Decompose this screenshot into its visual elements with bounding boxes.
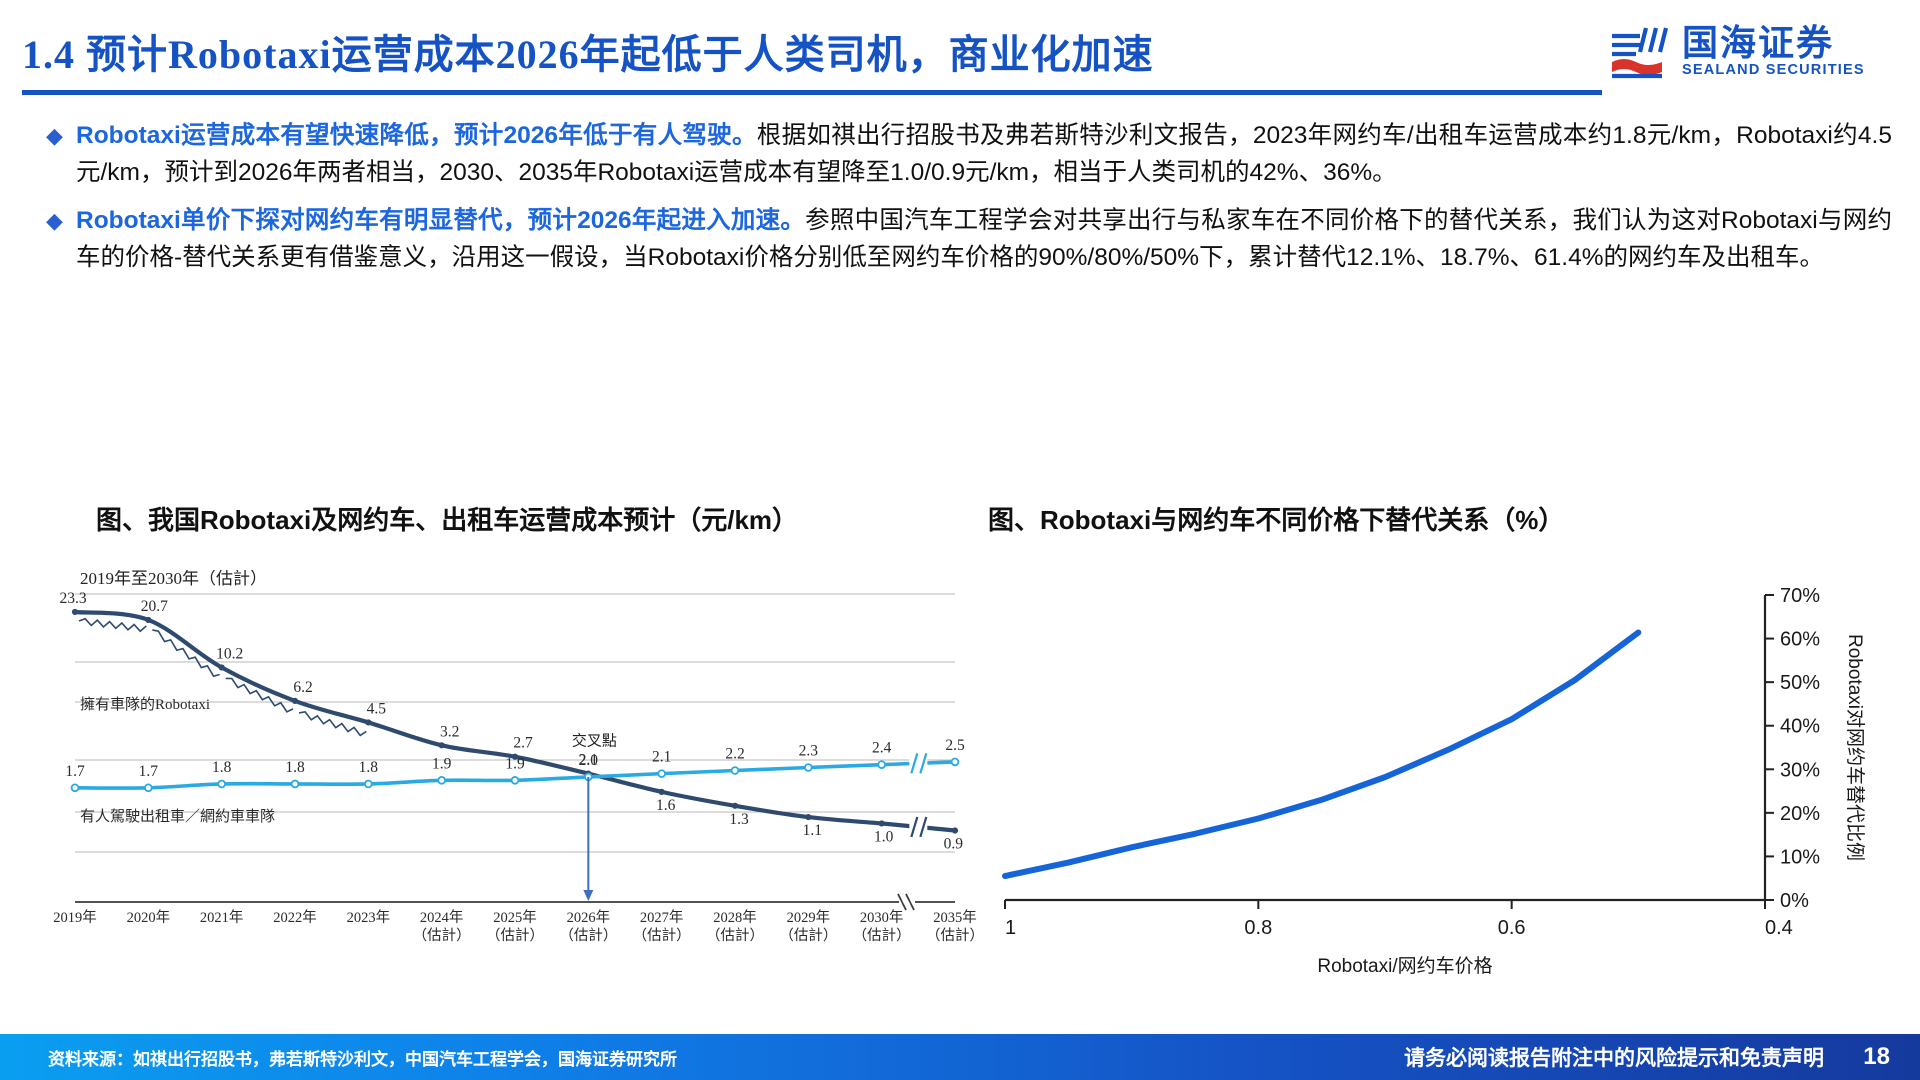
svg-text:（估計）: （估計） xyxy=(853,927,911,944)
svg-text:1.0: 1.0 xyxy=(874,828,894,845)
svg-text:2.0: 2.0 xyxy=(579,752,599,769)
svg-text:1: 1 xyxy=(1005,917,1016,939)
svg-text:1.8: 1.8 xyxy=(359,759,379,776)
logo-chinese-name: 国海证券 xyxy=(1682,25,1865,63)
svg-text:（估計）: （估計） xyxy=(926,927,980,944)
svg-text:4.5: 4.5 xyxy=(367,700,387,717)
slide-page: 1.4 预计Robotaxi运营成本2026年起低于人类司机，商业化加速 国海证… xyxy=(0,0,1920,1080)
bullet-list: ◆ Robotaxi运营成本有望快速降低，预计2026年低于有人驾驶。根据如祺出… xyxy=(42,118,1892,288)
bullet-strong-text: Robotaxi单价下探对网约车有明显替代，预计2026年起进入加速。 xyxy=(76,207,805,234)
svg-text:2.5: 2.5 xyxy=(945,737,965,754)
svg-text:50%: 50% xyxy=(1780,672,1820,694)
svg-text:Robotaxi/网约车价格: Robotaxi/网约车价格 xyxy=(1317,955,1492,977)
page-number: 18 xyxy=(1863,1043,1890,1071)
svg-text:0.8: 0.8 xyxy=(1244,917,1272,939)
page-title: 1.4 预计Robotaxi运营成本2026年起低于人类司机，商业化加速 xyxy=(22,22,1154,80)
svg-text:2024年: 2024年 xyxy=(420,909,464,926)
svg-text:23.3: 23.3 xyxy=(59,590,86,607)
svg-text:2.2: 2.2 xyxy=(725,745,744,762)
svg-text:0.9: 0.9 xyxy=(944,836,964,853)
diamond-bullet-icon: ◆ xyxy=(42,203,76,239)
svg-text:20%: 20% xyxy=(1780,803,1820,825)
svg-text:6.2: 6.2 xyxy=(293,679,312,696)
operating-cost-chart: 2019年至2030年（估計）交叉點23.320.710.26.24.53.22… xyxy=(50,570,980,970)
svg-text:2021年: 2021年 xyxy=(200,909,244,926)
svg-text:2023年: 2023年 xyxy=(347,909,391,926)
svg-text:（估計）: （估計） xyxy=(706,927,764,944)
svg-text:2.3: 2.3 xyxy=(799,743,819,760)
svg-text:1.7: 1.7 xyxy=(139,763,159,780)
svg-text:0.4: 0.4 xyxy=(1765,917,1793,939)
svg-text:（估計）: （估計） xyxy=(559,927,617,944)
svg-text:Robotaxi对网约车替代比例: Robotaxi对网约车替代比例 xyxy=(1844,634,1866,861)
svg-text:（估計）: （估計） xyxy=(779,927,837,944)
svg-text:2026年: 2026年 xyxy=(567,909,611,926)
svg-text:0%: 0% xyxy=(1780,890,1809,912)
sealand-logo-mark-icon xyxy=(1610,22,1672,82)
svg-text:1.9: 1.9 xyxy=(432,755,452,772)
svg-text:1.6: 1.6 xyxy=(656,797,676,814)
bullet-item: ◆ Robotaxi运营成本有望快速降低，预计2026年低于有人驾驶。根据如祺出… xyxy=(42,118,1892,191)
svg-text:1.3: 1.3 xyxy=(729,811,749,828)
bullet-strong-text: Robotaxi运营成本有望快速降低，预计2026年低于有人驾驶。 xyxy=(76,122,757,149)
svg-text:擁有車隊的Robotaxi: 擁有車隊的Robotaxi xyxy=(80,696,210,713)
svg-text:2025年: 2025年 xyxy=(493,909,537,926)
diamond-bullet-icon: ◆ xyxy=(42,118,76,154)
footer-source: 资料来源：如祺出行招股书，弗若斯特沙利文，中国汽车工程学会，国海证券研究所 xyxy=(48,1045,677,1070)
svg-text:1.7: 1.7 xyxy=(65,763,85,780)
svg-text:有人駕駛出租車／網約車車隊: 有人駕駛出租車／網約車車隊 xyxy=(80,808,275,825)
svg-text:10.2: 10.2 xyxy=(216,645,243,662)
svg-text:2019年: 2019年 xyxy=(53,909,97,926)
svg-text:1.8: 1.8 xyxy=(212,759,232,776)
svg-text:2030年: 2030年 xyxy=(860,909,904,926)
svg-text:2022年: 2022年 xyxy=(273,909,317,926)
svg-text:1.1: 1.1 xyxy=(803,822,822,839)
footer-bar: 资料来源：如祺出行招股书，弗若斯特沙利文，中国汽车工程学会，国海证券研究所 请务… xyxy=(0,1034,1920,1080)
bullet-text: Robotaxi单价下探对网约车有明显替代，预计2026年起进入加速。参照中国汽… xyxy=(76,203,1892,276)
svg-text:30%: 30% xyxy=(1780,759,1820,781)
svg-text:40%: 40% xyxy=(1780,716,1820,738)
title-underline-rule xyxy=(22,90,1602,95)
svg-text:2029年: 2029年 xyxy=(787,909,831,926)
svg-text:3.2: 3.2 xyxy=(440,723,459,740)
substitution-chart: 0%10%20%30%40%50%60%70%10.80.60.4Robotax… xyxy=(975,565,1905,995)
svg-text:（估計）: （估計） xyxy=(486,927,544,944)
footer-disclaimer: 请务必阅读报告附注中的风险提示和免责声明 xyxy=(1404,1042,1824,1072)
svg-text:2.4: 2.4 xyxy=(872,740,892,757)
svg-text:2028年: 2028年 xyxy=(713,909,757,926)
svg-text:0.6: 0.6 xyxy=(1498,917,1526,939)
right-chart-title: 图、Robotaxi与网约车不同价格下替代关系（%） xyxy=(988,500,1564,537)
svg-text:70%: 70% xyxy=(1780,585,1820,607)
svg-text:2020年: 2020年 xyxy=(127,909,171,926)
svg-text:1.8: 1.8 xyxy=(285,759,305,776)
svg-text:2019年至2030年（估計）: 2019年至2030年（估計） xyxy=(80,570,267,588)
bullet-item: ◆ Robotaxi单价下探对网约车有明显替代，预计2026年起进入加速。参照中… xyxy=(42,203,1892,276)
logo-english-name: SEALAND SECURITIES xyxy=(1682,63,1865,79)
svg-text:（估計）: （估計） xyxy=(413,927,471,944)
left-chart-title: 图、我国Robotaxi及网约车、出租车运营成本预计（元/km） xyxy=(96,500,798,537)
svg-text:交叉點: 交叉點 xyxy=(572,732,617,750)
svg-text:2.7: 2.7 xyxy=(513,735,533,752)
svg-text:2035年: 2035年 xyxy=(933,909,977,926)
bullet-text: Robotaxi运营成本有望快速降低，预计2026年低于有人驾驶。根据如祺出行招… xyxy=(76,118,1892,191)
svg-text:1.9: 1.9 xyxy=(505,755,525,772)
svg-text:60%: 60% xyxy=(1780,629,1820,651)
svg-text:20.7: 20.7 xyxy=(141,598,168,615)
company-logo: 国海证券 SEALAND SECURITIES xyxy=(1610,16,1900,88)
svg-text:2027年: 2027年 xyxy=(640,909,684,926)
svg-text:2.1: 2.1 xyxy=(652,749,671,766)
svg-text:（估計）: （估計） xyxy=(633,927,691,944)
svg-text:10%: 10% xyxy=(1780,846,1820,868)
